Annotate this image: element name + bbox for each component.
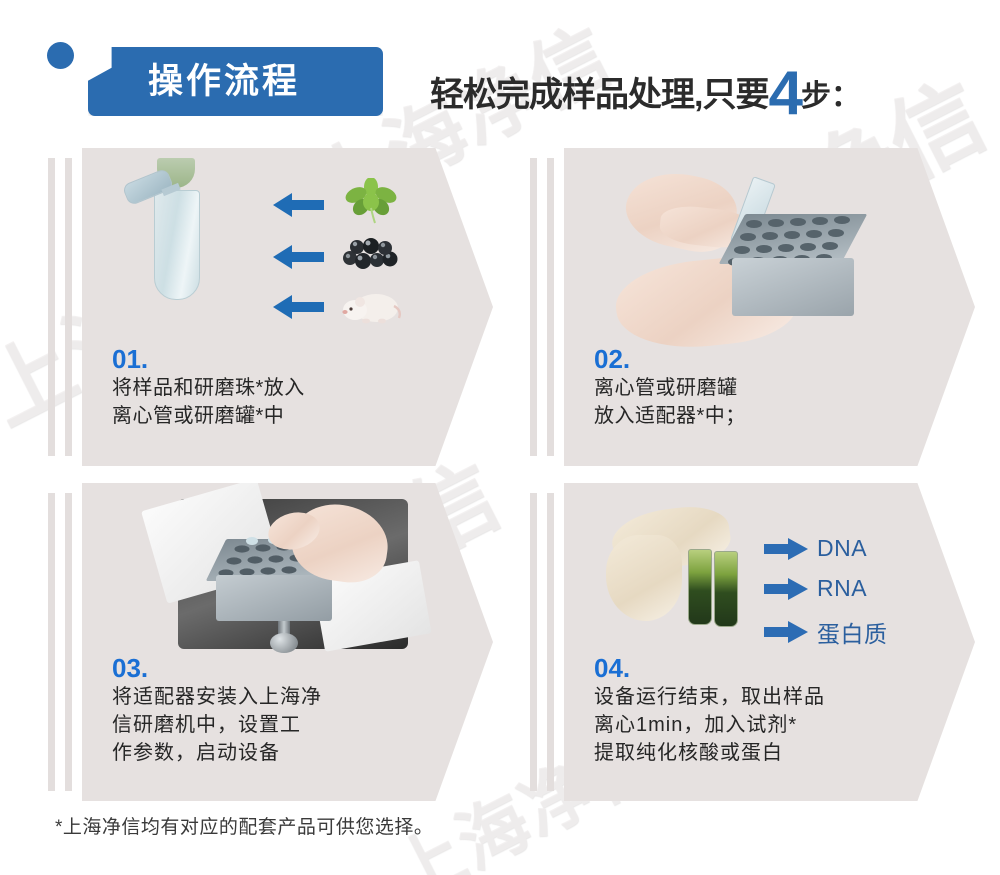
- output-legend-dna: DNA: [764, 535, 867, 562]
- card-accent-bar: [547, 493, 554, 791]
- page-title-tail: 步：: [801, 80, 861, 113]
- page-header: 操作流程 轻松完成样品处理,只要4步：: [0, 0, 1000, 140]
- output-legend-protein: 蛋白质: [764, 615, 888, 649]
- card-accent-bar: [48, 158, 55, 456]
- step-card-body: 03. 将适配器安装入上海净 信研磨机中，设置工 作参数，启动设备: [82, 483, 493, 801]
- step-text-line: 将适配器安装入上海净: [112, 683, 462, 711]
- rotor-knob-icon: [270, 633, 298, 653]
- left-arrow-icon: [272, 294, 324, 320]
- step-card-body: DNA RNA 蛋白质 04. 设备运行结束，取出样品: [564, 483, 975, 801]
- right-arrow-icon: [764, 621, 808, 643]
- adapter-block-front: [216, 575, 332, 621]
- step-number: 01.: [112, 344, 462, 374]
- step-card-body: 02. 离心管或研磨罐 放入适配器*中；: [564, 148, 975, 466]
- step-01-illustration: [82, 148, 493, 344]
- step-card-02[interactable]: 02. 离心管或研磨罐 放入适配器*中；: [530, 148, 975, 466]
- sample-vial-icon: [688, 549, 712, 625]
- step-text-line: 信研磨机中，设置工: [112, 711, 462, 739]
- legend-label: 蛋白质: [817, 615, 888, 649]
- left-arrow-icon: [272, 192, 324, 218]
- page-title-number: 4: [768, 59, 800, 128]
- step-text-line: 放入适配器*中；: [594, 402, 944, 430]
- legend-label: DNA: [817, 535, 867, 562]
- step-card-04[interactable]: DNA RNA 蛋白质 04. 设备运行结束，取出样品: [530, 483, 975, 801]
- step-04-caption: 04. 设备运行结束，取出样品 离心1min，加入试剂* 提取纯化核酸或蛋白: [594, 653, 944, 767]
- right-arrow-icon: [764, 538, 808, 560]
- right-arrow-icon: [764, 578, 808, 600]
- step-text-line: 设备运行结束，取出样品: [594, 683, 944, 711]
- grinding-beads-icon: [340, 236, 402, 270]
- step-text-line: 离心管或研磨罐*中: [112, 402, 462, 430]
- page-title-main: 轻松完成样品处理,只要: [430, 76, 768, 114]
- card-accent-bar: [547, 158, 554, 456]
- card-accent-bar: [530, 493, 537, 791]
- legend-label: RNA: [817, 575, 867, 602]
- step-number: 02.: [594, 344, 944, 374]
- step-text-line: 离心1min，加入试剂*: [594, 711, 944, 739]
- step-number: 03.: [112, 653, 462, 683]
- left-arrow-icon: [272, 244, 324, 270]
- card-accent-bar: [48, 493, 55, 791]
- step-04-illustration: DNA RNA 蛋白质: [564, 483, 975, 655]
- step-number: 04.: [594, 653, 944, 683]
- step-text-line: 将样品和研磨珠*放入: [112, 374, 462, 402]
- adapter-block-front: [732, 258, 854, 316]
- step-text-line: 作参数，启动设备: [112, 739, 462, 767]
- banner-label: 操作流程: [148, 53, 378, 110]
- leaf-icon: [344, 178, 398, 224]
- footnote-text: *上海净信均有对应的配套产品可供您选择。: [55, 812, 433, 839]
- step-card-body: 01. 将样品和研磨珠*放入 离心管或研磨罐*中: [82, 148, 493, 466]
- card-accent-bar: [65, 493, 72, 791]
- step-02-illustration: [564, 148, 975, 344]
- card-accent-bar: [530, 158, 537, 456]
- step-01-caption: 01. 将样品和研磨珠*放入 离心管或研磨罐*中: [112, 344, 462, 430]
- step-text-line: 提取纯化核酸或蛋白: [594, 739, 944, 767]
- step-card-01[interactable]: 01. 将样品和研磨珠*放入 离心管或研磨罐*中: [48, 148, 493, 466]
- sample-vial-icon: [714, 551, 738, 627]
- step-text-line: 离心管或研磨罐: [594, 374, 944, 402]
- steps-grid: 01. 将样品和研磨珠*放入 离心管或研磨罐*中: [0, 140, 1000, 800]
- page-title: 轻松完成样品处理,只要4步：: [430, 50, 861, 121]
- output-legend-rna: RNA: [764, 575, 867, 602]
- step-02-caption: 02. 离心管或研磨罐 放入适配器*中；: [594, 344, 944, 430]
- glove-thumb-icon: [606, 535, 682, 621]
- step-card-03[interactable]: 03. 将适配器安装入上海净 信研磨机中，设置工 作参数，启动设备: [48, 483, 493, 801]
- step-03-caption: 03. 将适配器安装入上海净 信研磨机中，设置工 作参数，启动设备: [112, 653, 462, 767]
- blue-dot-icon: [47, 42, 74, 69]
- step-03-illustration: [82, 483, 493, 655]
- mouse-icon: [340, 288, 402, 324]
- card-accent-bar: [65, 158, 72, 456]
